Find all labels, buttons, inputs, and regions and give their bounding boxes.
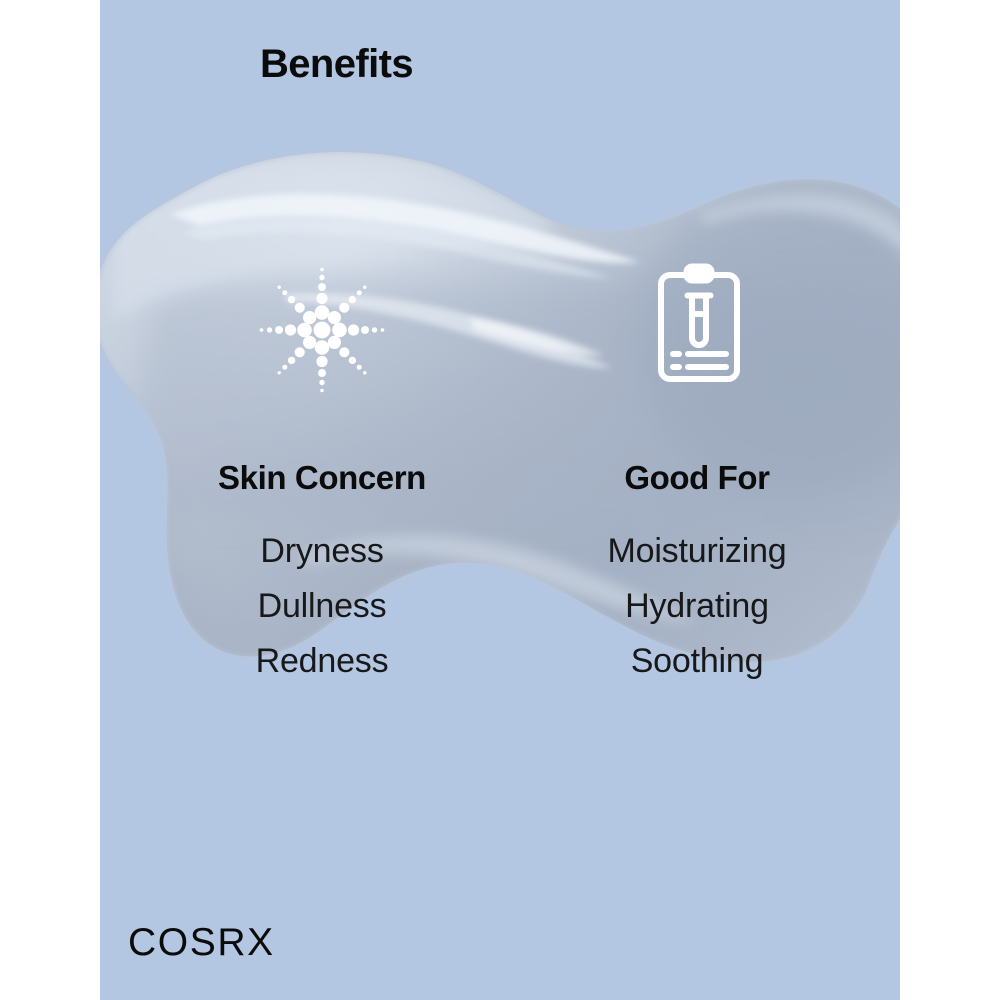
column-heading-good-for: Good For [512,460,882,496]
list-item: Dryness [132,524,512,579]
column-list-good-for: Moisturizing Hydrating Soothing [512,524,882,689]
clipboard-test-tube-icon [650,262,748,388]
sparkle-burst-icon [252,261,392,399]
column-good-for: Good For Moisturizing Hydrating Soothing [512,460,882,690]
blue-panel: Benefits [100,0,900,1000]
list-item: Redness [132,634,512,689]
product-benefits-card: Benefits [0,0,1000,1000]
list-item: Hydrating [512,579,882,634]
brand-logo: COSRX [128,923,275,962]
column-skin-concern: Skin Concern Dryness Dullness Redness [132,460,512,690]
list-item: Dullness [132,579,512,634]
list-item: Moisturizing [512,524,882,579]
list-item: Soothing [512,634,882,689]
column-list-skin-concern: Dryness Dullness Redness [132,524,512,689]
page-title: Benefits [260,44,413,84]
column-heading-skin-concern: Skin Concern [132,460,512,496]
